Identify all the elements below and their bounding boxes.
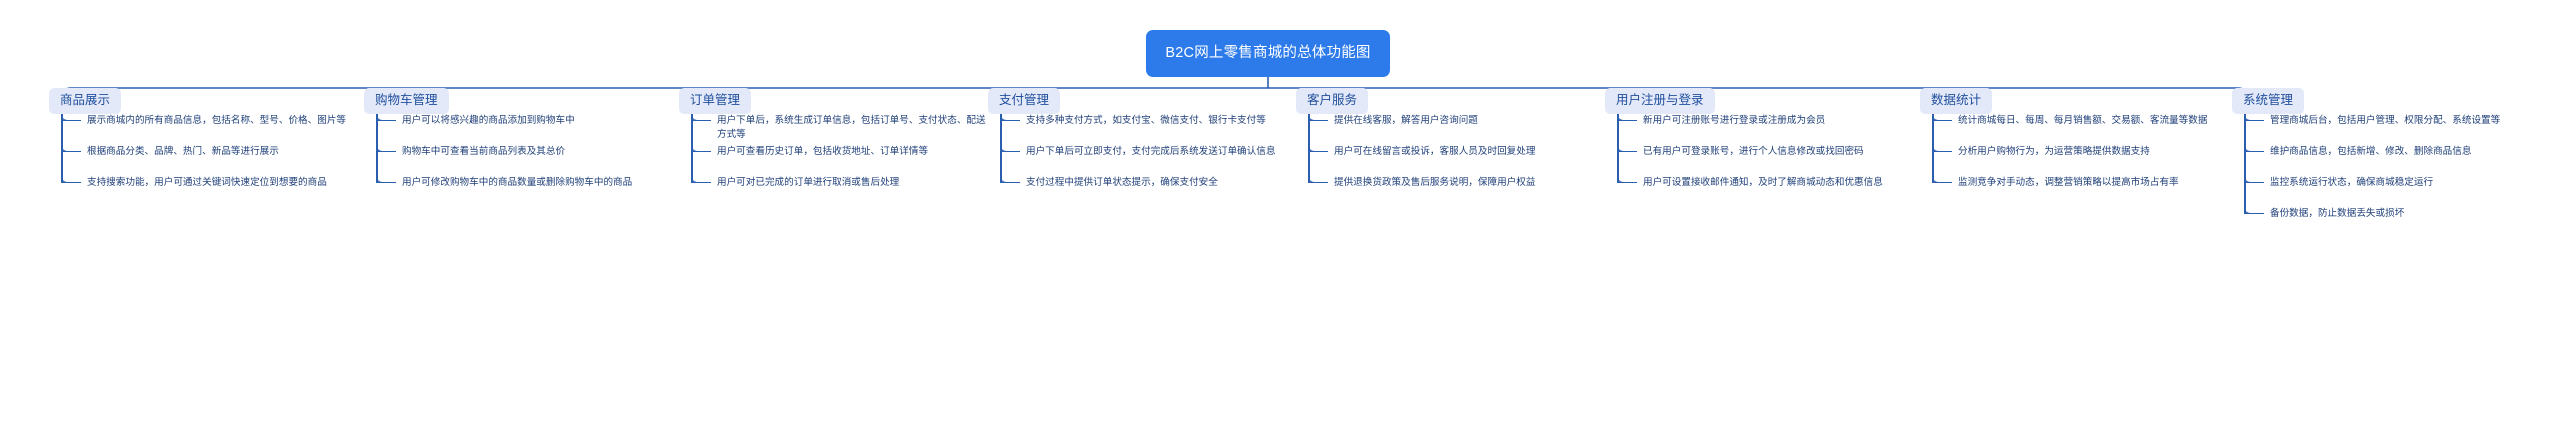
leaf-item[interactable]: 已有用户可登录账号，进行个人信息修改或找回密码: [1617, 145, 1929, 176]
leaf-list-4: 提供在线客服，解答用户咨询问题用户可在线留言或投诉，客服人员及时回复处理提供退换…: [1308, 114, 1612, 207]
leaf-text: 支付过程中提供订单状态提示，确保支付安全: [1026, 176, 1304, 190]
branch-3: 支付管理支持多种支付方式，如支付宝、微信支付、银行卡支付等用户下单后可立即支付，…: [988, 88, 1292, 114]
leaf-text: 根据商品分类、品牌、热门、新品等进行展示: [87, 145, 373, 159]
leaf-text: 支持搜索功能，用户可通过关键词快速定位到想要的商品: [87, 176, 373, 190]
leaf-item[interactable]: 展示商城内的所有商品信息，包括名称、型号、价格、图片等: [61, 114, 373, 145]
leaf-list-5: 新用户可注册账号进行登录或注册成为会员已有用户可登录账号，进行个人信息修改或找回…: [1617, 114, 1929, 207]
branch-2: 订单管理用户下单后，系统生成订单信息，包括订单号、支付状态、配送方式等用户可查看…: [679, 88, 983, 114]
branch-label-5[interactable]: 用户注册与登录: [1605, 88, 1715, 114]
leaf-item[interactable]: 提供退换货政策及售后服务说明，保障用户权益: [1308, 176, 1612, 207]
leaf-text: 展示商城内的所有商品信息，包括名称、型号、价格、图片等: [87, 114, 373, 128]
leaf-text: 分析用户购物行为，为运营策略提供数据支持: [1958, 145, 2236, 159]
branch-1: 购物车管理用户可以将感兴趣的商品添加到购物车中购物车中可查看当前商品列表及其总价…: [364, 88, 676, 114]
branch-label-7[interactable]: 系统管理: [2232, 88, 2304, 114]
leaf-text: 用户可查看历史订单，包括收货地址、订单详情等: [717, 145, 995, 159]
leaf-text: 已有用户可登录账号，进行个人信息修改或找回密码: [1643, 145, 1929, 159]
leaf-text: 用户可设置接收邮件通知，及时了解商城动态和优惠信息: [1643, 176, 1929, 190]
branch-label-6[interactable]: 数据统计: [1920, 88, 1992, 114]
branch-6: 数据统计统计商城每日、每周、每月销售额、交易额、客流量等数据分析用户购物行为，为…: [1920, 88, 2224, 114]
leaf-text: 提供退换货政策及售后服务说明，保障用户权益: [1334, 176, 1612, 190]
leaf-item[interactable]: 支持搜索功能，用户可通过关键词快速定位到想要的商品: [61, 176, 373, 207]
leaf-text: 维护商品信息，包括新增、修改、删除商品信息: [2270, 145, 2556, 159]
leaf-text: 购物车中可查看当前商品列表及其总价: [402, 145, 688, 159]
leaf-text: 用户下单后可立即支付，支付完成后系统发送订单确认信息: [1026, 145, 1304, 159]
leaf-text: 监测竞争对手动态，调整营销策略以提高市场占有率: [1958, 176, 2236, 190]
leaf-item[interactable]: 用户可对已完成的订单进行取消或售后处理: [691, 176, 995, 207]
leaf-item[interactable]: 根据商品分类、品牌、热门、新品等进行展示: [61, 145, 373, 176]
leaf-item[interactable]: 新用户可注册账号进行登录或注册成为会员: [1617, 114, 1929, 145]
leaf-item[interactable]: 用户可查看历史订单，包括收货地址、订单详情等: [691, 145, 995, 176]
leaf-item[interactable]: 用户下单后，系统生成订单信息，包括订单号、支付状态、配送方式等: [691, 114, 995, 145]
leaf-text: 备份数据，防止数据丢失或损坏: [2270, 207, 2556, 221]
branch-label-0[interactable]: 商品展示: [49, 88, 121, 114]
leaf-text: 用户下单后，系统生成订单信息，包括订单号、支付状态、配送方式等: [717, 114, 995, 141]
leaf-item[interactable]: 监测竞争对手动态，调整营销策略以提高市场占有率: [1932, 176, 2236, 207]
branch-label-2[interactable]: 订单管理: [679, 88, 751, 114]
root-node[interactable]: B2C网上零售商城的总体功能图: [1146, 30, 1390, 77]
leaf-text: 用户可修改购物车中的商品数量或删除购物车中的商品: [402, 176, 688, 190]
branch-0: 商品展示展示商城内的所有商品信息，包括名称、型号、价格、图片等根据商品分类、品牌…: [49, 88, 361, 114]
branch-label-1[interactable]: 购物车管理: [364, 88, 449, 114]
leaf-list-2: 用户下单后，系统生成订单信息，包括订单号、支付状态、配送方式等用户可查看历史订单…: [691, 114, 995, 207]
leaf-text: 监控系统运行状态，确保商城稳定运行: [2270, 176, 2556, 190]
leaf-text: 用户可在线留言或投诉，客服人员及时回复处理: [1334, 145, 1612, 159]
leaf-item[interactable]: 维护商品信息，包括新增、修改、删除商品信息: [2244, 145, 2556, 176]
branch-5: 用户注册与登录新用户可注册账号进行登录或注册成为会员已有用户可登录账号，进行个人…: [1605, 88, 1917, 114]
leaf-item[interactable]: 备份数据，防止数据丢失或损坏: [2244, 207, 2556, 238]
branch-label-3[interactable]: 支付管理: [988, 88, 1060, 114]
leaf-item[interactable]: 用户可修改购物车中的商品数量或删除购物车中的商品: [376, 176, 688, 207]
leaf-text: 用户可对已完成的订单进行取消或售后处理: [717, 176, 995, 190]
leaf-item[interactable]: 监控系统运行状态，确保商城稳定运行: [2244, 176, 2556, 207]
leaf-list-0: 展示商城内的所有商品信息，包括名称、型号、价格、图片等根据商品分类、品牌、热门、…: [61, 114, 373, 207]
branch-4: 客户服务提供在线客服，解答用户咨询问题用户可在线留言或投诉，客服人员及时回复处理…: [1296, 88, 1600, 114]
leaf-item[interactable]: 分析用户购物行为，为运营策略提供数据支持: [1932, 145, 2236, 176]
leaf-text: 新用户可注册账号进行登录或注册成为会员: [1643, 114, 1929, 128]
leaf-item[interactable]: 管理商城后台，包括用户管理、权限分配、系统设置等: [2244, 114, 2556, 145]
leaf-text: 提供在线客服，解答用户咨询问题: [1334, 114, 1612, 128]
branch-label-4[interactable]: 客户服务: [1296, 88, 1368, 114]
leaf-list-3: 支持多种支付方式，如支付宝、微信支付、银行卡支付等用户下单后可立即支付，支付完成…: [1000, 114, 1304, 207]
leaf-item[interactable]: 支付过程中提供订单状态提示，确保支付安全: [1000, 176, 1304, 207]
leaf-list-7: 管理商城后台，包括用户管理、权限分配、系统设置等维护商品信息，包括新增、修改、删…: [2244, 114, 2556, 238]
leaf-text: 统计商城每日、每周、每月销售额、交易额、客流量等数据: [1958, 114, 2236, 128]
leaf-item[interactable]: 统计商城每日、每周、每月销售额、交易额、客流量等数据: [1932, 114, 2236, 145]
leaf-text: 用户可以将感兴趣的商品添加到购物车中: [402, 114, 688, 128]
leaf-list-1: 用户可以将感兴趣的商品添加到购物车中购物车中可查看当前商品列表及其总价用户可修改…: [376, 114, 688, 207]
leaf-item[interactable]: 用户可设置接收邮件通知，及时了解商城动态和优惠信息: [1617, 176, 1929, 207]
branch-7: 系统管理管理商城后台，包括用户管理、权限分配、系统设置等维护商品信息，包括新增、…: [2232, 88, 2544, 114]
leaf-item[interactable]: 用户下单后可立即支付，支付完成后系统发送订单确认信息: [1000, 145, 1304, 176]
leaf-item[interactable]: 提供在线客服，解答用户咨询问题: [1308, 114, 1612, 145]
leaf-text: 管理商城后台，包括用户管理、权限分配、系统设置等: [2270, 114, 2556, 128]
leaf-list-6: 统计商城每日、每周、每月销售额、交易额、客流量等数据分析用户购物行为，为运营策略…: [1932, 114, 2236, 207]
leaf-item[interactable]: 用户可在线留言或投诉，客服人员及时回复处理: [1308, 145, 1612, 176]
leaf-item[interactable]: 用户可以将感兴趣的商品添加到购物车中: [376, 114, 688, 145]
leaf-item[interactable]: 购物车中可查看当前商品列表及其总价: [376, 145, 688, 176]
leaf-item[interactable]: 支持多种支付方式，如支付宝、微信支付、银行卡支付等: [1000, 114, 1304, 145]
leaf-text: 支持多种支付方式，如支付宝、微信支付、银行卡支付等: [1026, 114, 1304, 128]
mindmap-canvas: B2C网上零售商城的总体功能图 商品展示展示商城内的所有商品信息，包括名称、型号…: [0, 0, 2560, 430]
